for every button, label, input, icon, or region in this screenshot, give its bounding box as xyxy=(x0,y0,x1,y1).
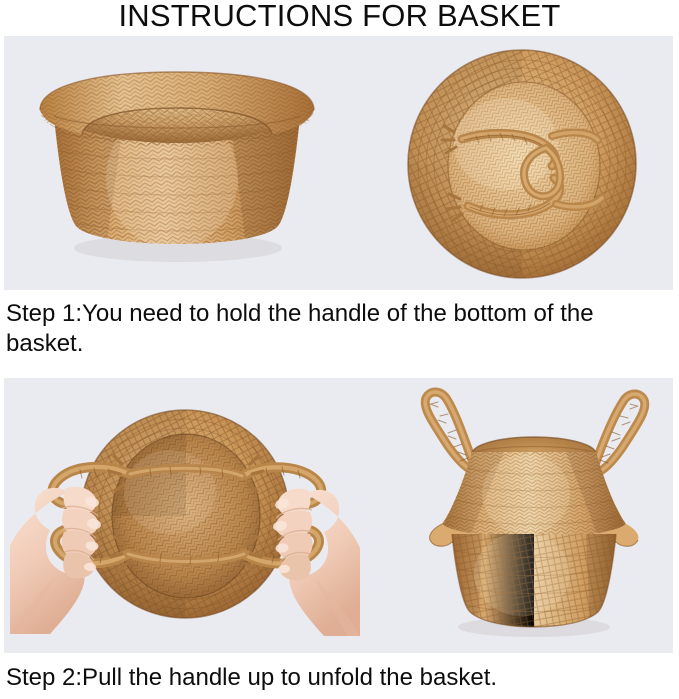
instruction-sheet: INSTRUCTIONS FOR BASKET xyxy=(0,0,679,699)
unfolded-belly-basket xyxy=(400,384,668,646)
page-title: INSTRUCTIONS FOR BASKET xyxy=(0,0,679,33)
step-1-caption: Step 1:You need to hold the handle of th… xyxy=(6,299,674,359)
panel-step-2 xyxy=(4,378,673,653)
hands-pulling-handles xyxy=(10,396,360,644)
step-2-caption: Step 2:Pull the handle up to unfold the … xyxy=(6,663,674,693)
folded-basket-top-view xyxy=(396,44,648,284)
folded-basket-side-view xyxy=(32,58,322,273)
panel-step-1 xyxy=(4,36,673,290)
